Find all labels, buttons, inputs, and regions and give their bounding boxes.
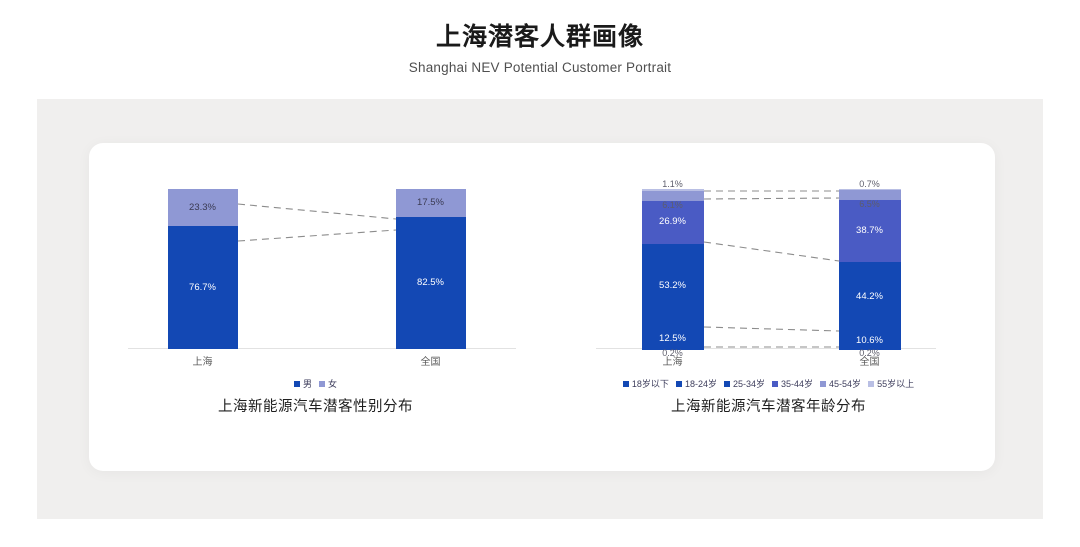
gender-seg-male-national[interactable]: 82.5% xyxy=(396,217,466,349)
legend-swatch-icon xyxy=(676,381,682,387)
gender-legend: 男 女 xyxy=(89,377,542,390)
age-seg-55plus-national[interactable]: 0.7% xyxy=(839,189,901,190)
age-legend-label-55plus: 55岁以上 xyxy=(877,377,914,390)
age-legend-label-35-44: 35-44岁 xyxy=(781,377,813,390)
age-legend-item-18-24[interactable]: 18-24岁 xyxy=(676,377,717,390)
page-subtitle: Shanghai NEV Potential Customer Portrait xyxy=(0,60,1080,75)
legend-swatch-icon xyxy=(724,381,730,387)
age-label-35-44-shanghai: 26.9% xyxy=(659,217,686,227)
legend-swatch-icon xyxy=(623,381,629,387)
age-label-55plus-national: 0.7% xyxy=(859,180,880,189)
age-seg-45-54-national[interactable]: 6.5% xyxy=(839,190,901,200)
age-bar-national[interactable]: 0.2% 10.6% 44.2% 38.7% 6.5% 0. xyxy=(839,189,901,349)
gender-label-male-shanghai: 76.7% xyxy=(189,283,216,293)
gender-seg-female-shanghai[interactable]: 23.3% xyxy=(168,189,238,226)
age-label-25-34-shanghai: 53.2% xyxy=(659,281,686,291)
age-seg-18-24-national[interactable]: 10.6% xyxy=(839,332,901,349)
age-seg-18-24-shanghai[interactable]: 12.5% xyxy=(642,329,704,349)
age-label-u18-shanghai: 0.2% xyxy=(662,349,683,358)
age-legend-label-18-24: 18-24岁 xyxy=(685,377,717,390)
gender-label-female-shanghai: 23.3% xyxy=(189,203,216,213)
age-label-45-54-national: 6.5% xyxy=(859,200,880,209)
gender-legend-item-female[interactable]: 女 xyxy=(319,377,337,390)
age-legend-item-u18[interactable]: 18岁以下 xyxy=(623,377,669,390)
gender-legend-label-male: 男 xyxy=(303,377,312,390)
age-label-35-44-national: 38.7% xyxy=(856,226,883,236)
age-label-18-24-shanghai: 12.5% xyxy=(659,334,686,344)
charts-row: 76.7% 23.3% 82.5% 17.5% 上海 xyxy=(89,143,995,471)
gender-chart-caption: 上海新能源汽车潜客性别分布 xyxy=(89,395,542,416)
age-legend-item-55plus[interactable]: 55岁以上 xyxy=(868,377,914,390)
age-bar-shanghai[interactable]: 0.2% 12.5% 53.2% 26.9% 6.1% 1. xyxy=(642,189,704,349)
age-label-25-34-national: 44.2% xyxy=(856,292,883,302)
age-chart-caption: 上海新能源汽车潜客年龄分布 xyxy=(542,395,995,416)
age-legend: 18岁以下 18-24岁 25-34岁 35-44岁 45-54岁 xyxy=(542,377,995,390)
age-legend-item-35-44[interactable]: 35-44岁 xyxy=(772,377,813,390)
gender-plot-area: 76.7% 23.3% 82.5% 17.5% xyxy=(146,189,486,349)
age-seg-35-44-national[interactable]: 38.7% xyxy=(839,200,901,261)
age-seg-45-54-shanghai[interactable]: 6.1% xyxy=(642,191,704,201)
age-label-45-54-shanghai: 6.1% xyxy=(662,201,683,210)
page-header: 上海潜客人群画像 Shanghai NEV Potential Customer… xyxy=(0,0,1080,75)
page-title: 上海潜客人群画像 xyxy=(0,22,1080,53)
age-legend-item-45-54[interactable]: 45-54岁 xyxy=(820,377,861,390)
age-label-u18-national: 0.2% xyxy=(859,349,880,358)
age-legend-label-u18: 18岁以下 xyxy=(632,377,669,390)
gender-legend-item-male[interactable]: 男 xyxy=(294,377,312,390)
gender-tick-national: 全国 xyxy=(421,353,441,368)
age-seg-25-34-national[interactable]: 44.2% xyxy=(839,262,901,332)
gender-legend-label-female: 女 xyxy=(328,377,337,390)
gender-bar-national[interactable]: 82.5% 17.5% xyxy=(396,189,466,349)
age-legend-label-25-34: 25-34岁 xyxy=(733,377,765,390)
legend-swatch-icon xyxy=(294,381,300,387)
chart-gender: 76.7% 23.3% 82.5% 17.5% 上海 xyxy=(89,143,542,471)
gender-seg-female-national[interactable]: 17.5% xyxy=(396,189,466,217)
age-label-55plus-shanghai: 1.1% xyxy=(662,180,683,189)
legend-swatch-icon xyxy=(868,381,874,387)
gender-bar-shanghai[interactable]: 76.7% 23.3% xyxy=(168,189,238,349)
age-seg-25-34-shanghai[interactable]: 53.2% xyxy=(642,244,704,329)
chart-age: 0.2% 12.5% 53.2% 26.9% 6.1% 1. xyxy=(542,143,995,471)
legend-swatch-icon xyxy=(319,381,325,387)
gender-seg-male-shanghai[interactable]: 76.7% xyxy=(168,226,238,349)
gender-label-male-national: 82.5% xyxy=(417,278,444,288)
age-label-18-24-national: 10.6% xyxy=(856,336,883,346)
gender-label-female-national: 17.5% xyxy=(417,198,444,208)
age-legend-item-25-34[interactable]: 25-34岁 xyxy=(724,377,765,390)
age-legend-label-45-54: 45-54岁 xyxy=(829,377,861,390)
gender-tick-shanghai: 上海 xyxy=(193,353,213,368)
legend-swatch-icon xyxy=(820,381,826,387)
age-plot-area: 0.2% 12.5% 53.2% 26.9% 6.1% 1. xyxy=(624,189,914,349)
gender-x-axis-ticks: 上海 全国 xyxy=(146,349,486,367)
age-seg-55plus-shanghai[interactable]: 1.1% xyxy=(642,189,704,191)
slide-page: 上海潜客人群画像 Shanghai NEV Potential Customer… xyxy=(0,0,1080,547)
legend-swatch-icon xyxy=(772,381,778,387)
